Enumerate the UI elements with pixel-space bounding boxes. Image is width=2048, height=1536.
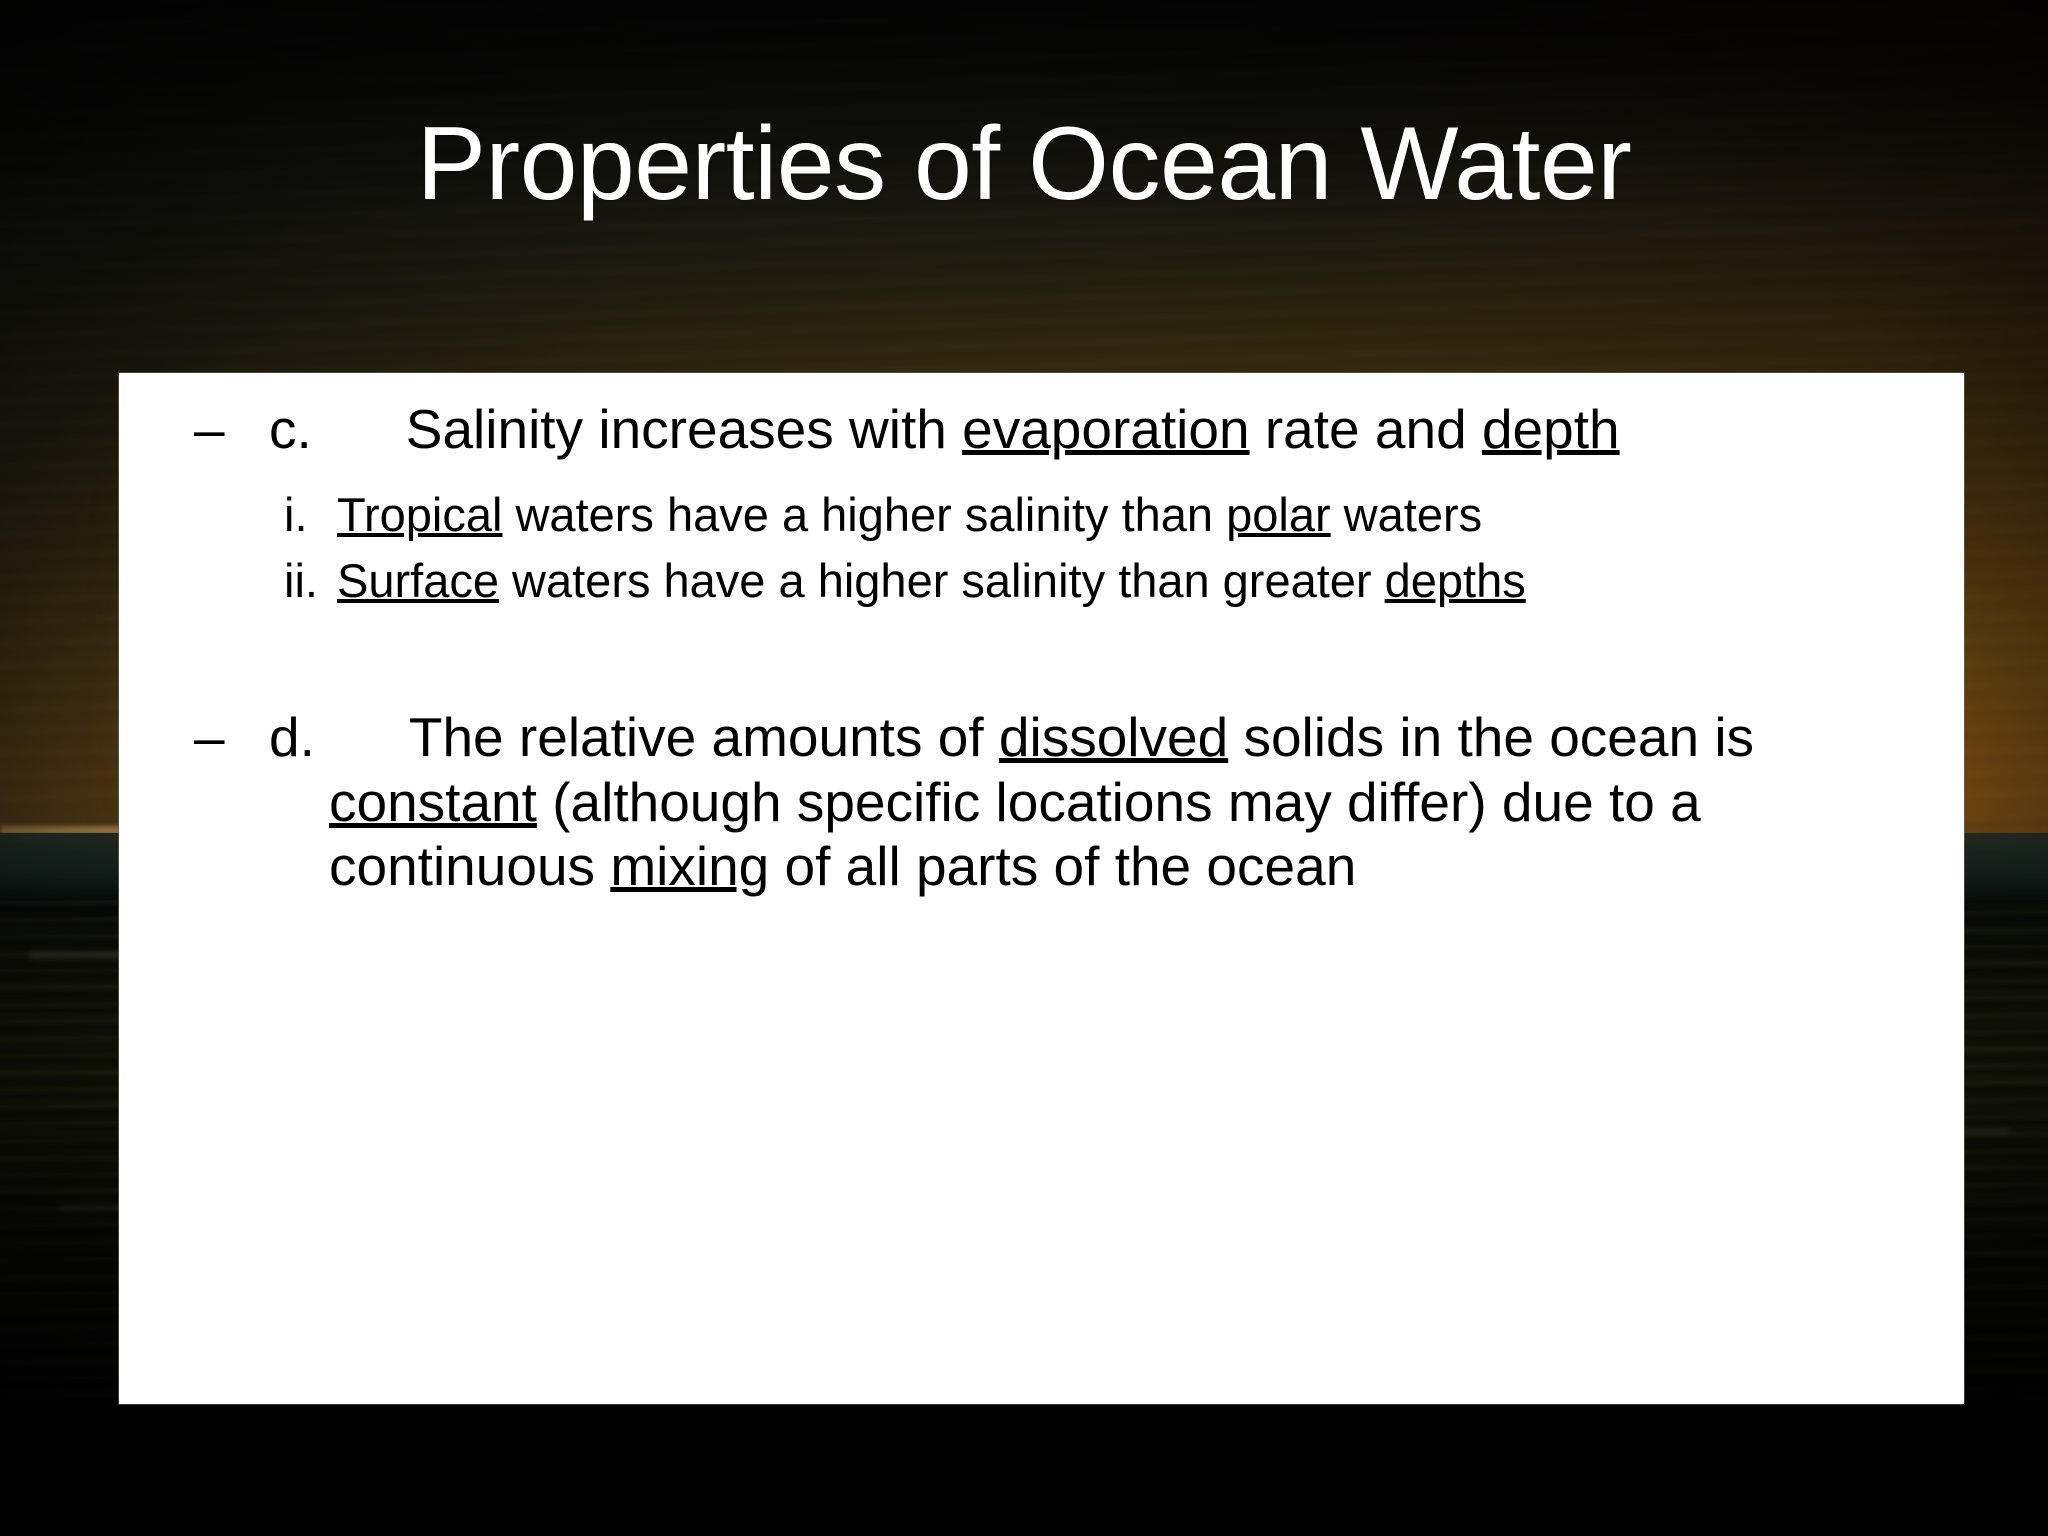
keyword-tropical: Tropical bbox=[337, 488, 502, 541]
bottom-black-band bbox=[0, 1400, 2048, 1536]
keyword-depth: depth bbox=[1482, 398, 1620, 460]
keyword-dissolved: dissolved bbox=[999, 706, 1228, 768]
keyword-polar: polar bbox=[1226, 488, 1331, 541]
bullet-text-d: The relative amounts of dissolved solids… bbox=[329, 706, 1754, 897]
spacer bbox=[119, 543, 1964, 553]
bullet-dash: – bbox=[194, 705, 234, 769]
keyword-depths: depths bbox=[1385, 554, 1526, 607]
sub-bullet-text-i: Tropical waters have a higher salinity t… bbox=[337, 488, 1482, 541]
keyword-surface: Surface bbox=[337, 554, 499, 607]
sub-bullet-marker-ii: ii. bbox=[284, 553, 354, 609]
bullet-marker-d: d. bbox=[269, 706, 315, 768]
spacer bbox=[119, 461, 1964, 487]
keyword-constant: constant bbox=[329, 771, 537, 833]
bullet-marker-c: c. bbox=[269, 398, 312, 460]
sub-bullet-text-ii: Surface waters have a higher salinity th… bbox=[337, 554, 1526, 607]
slide-title: Properties of Ocean Water bbox=[0, 108, 2048, 220]
bullet-d: –d.The relative amounts of dissolved sol… bbox=[119, 705, 1964, 898]
content-card: –c.Salinity increases with evaporation r… bbox=[119, 373, 1964, 1404]
sub-bullet-i: i.Tropical waters have a higher salinity… bbox=[119, 487, 1964, 543]
outline-list: –c.Salinity increases with evaporation r… bbox=[119, 397, 1964, 898]
sub-bullet-ii: ii.Surface waters have a higher salinity… bbox=[119, 553, 1964, 609]
sub-outline-list: i.Tropical waters have a higher salinity… bbox=[119, 487, 1964, 609]
bullet-c: –c.Salinity increases with evaporation r… bbox=[119, 397, 1964, 461]
keyword-mixing: mixing bbox=[610, 835, 769, 897]
bullet-dash: – bbox=[194, 397, 234, 461]
sub-bullet-marker-i: i. bbox=[284, 487, 354, 543]
paragraph-spacer bbox=[119, 609, 1964, 705]
keyword-evaporation: evaporation bbox=[962, 398, 1249, 460]
presentation-slide: Properties of Ocean Water –c.Salinity in… bbox=[0, 0, 2048, 1536]
bullet-text-c: Salinity increases with evaporation rate… bbox=[406, 398, 1620, 460]
